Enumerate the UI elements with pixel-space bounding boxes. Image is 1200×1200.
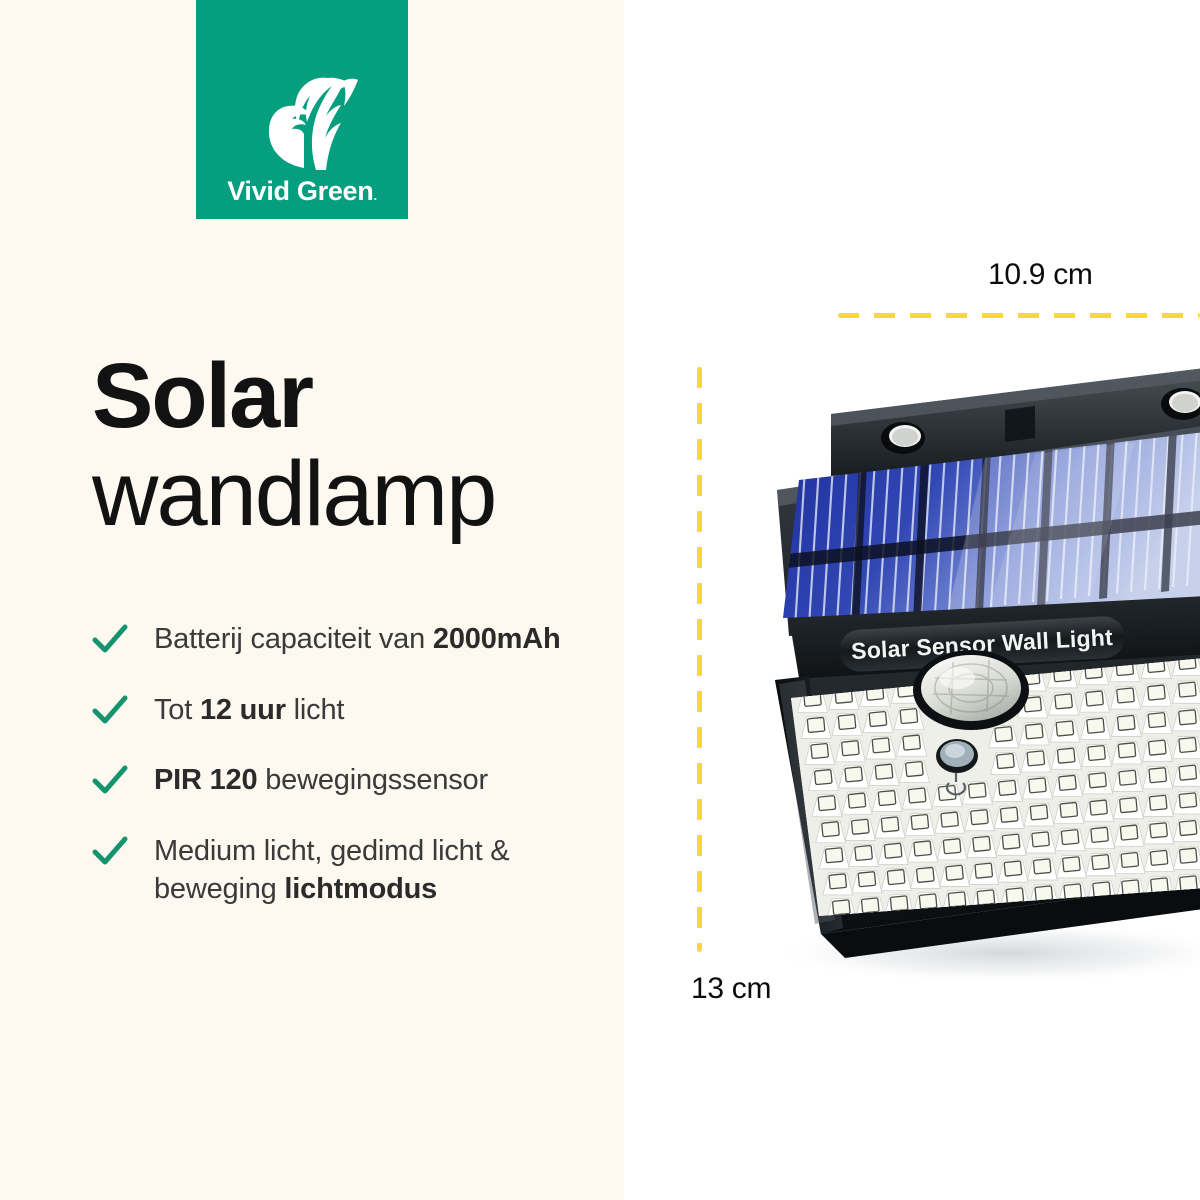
led-chip [872, 738, 890, 753]
led-chip [807, 717, 825, 732]
feature-list: Batterij capaciteit van 2000mAhTot 12 uu… [92, 620, 592, 909]
led-chip [884, 843, 902, 858]
led-chip [914, 841, 932, 856]
led-chip [1148, 740, 1166, 755]
headline-line-1: Solar [92, 348, 612, 446]
led-chip [999, 780, 1017, 795]
led-chip [1091, 827, 1109, 842]
feature-item: Batterij capaciteit van 2000mAh [92, 620, 592, 659]
led-chip [1179, 682, 1197, 697]
led-chip [1151, 878, 1169, 893]
led-chip [919, 894, 937, 909]
led-chip [1150, 850, 1168, 865]
led-chip [1118, 743, 1136, 758]
pir-sensor [913, 650, 1029, 730]
led-chip [1004, 861, 1022, 876]
led-chip [851, 819, 869, 834]
led-chip [900, 709, 918, 724]
led-chip [875, 764, 893, 779]
check-icon [92, 763, 128, 797]
led-chip [858, 872, 876, 887]
led-chip [1033, 859, 1051, 874]
brand-logo: Vivid Green. [196, 0, 408, 219]
led-chip [822, 822, 840, 837]
led-chip [811, 743, 829, 758]
led-chip [1064, 884, 1082, 899]
led-chip [878, 791, 896, 806]
led-chip [1059, 775, 1077, 790]
led-chip [1056, 721, 1074, 736]
led-chip [855, 845, 873, 860]
led-chip [1055, 694, 1073, 709]
led-chip [845, 767, 863, 782]
led-chip [838, 714, 856, 729]
led-chip [1029, 778, 1047, 793]
led-chip [1035, 886, 1053, 901]
led-chip [1120, 825, 1138, 840]
led-chip [869, 712, 887, 727]
led-chip [1002, 834, 1020, 849]
led-chip [1117, 715, 1135, 730]
led-chip [814, 770, 832, 785]
led-chip [975, 863, 993, 878]
led-chip [1086, 691, 1104, 706]
led-chip [1089, 773, 1107, 788]
led-chip [1119, 770, 1137, 785]
led-chip [1179, 848, 1197, 863]
led-chip [890, 896, 908, 911]
led-chip [818, 796, 836, 811]
product-image-solar-wall-lamp: Solar Sensor Wall Light [735, 368, 1200, 978]
led-chip [971, 810, 989, 825]
feature-item: Tot 12 uur licht [92, 691, 592, 730]
led-chip [1061, 830, 1079, 845]
led-chip [1179, 737, 1197, 752]
led-chip [829, 874, 847, 889]
height-dimension-line [697, 367, 702, 952]
led-chip [1092, 855, 1110, 870]
led-chip [1000, 807, 1018, 822]
led-chip [1087, 718, 1105, 733]
led-chip [1179, 710, 1197, 725]
led-chip [1148, 685, 1166, 700]
product-marketing-card: Vivid Green. Solar wandlamp Batterij cap… [0, 0, 1200, 1200]
led-chip [1149, 795, 1167, 810]
led-chip [1120, 798, 1138, 813]
led-chip [1179, 821, 1197, 836]
led-chip [948, 892, 966, 907]
page-title: Solar wandlamp [92, 348, 612, 543]
leaves-icon [242, 72, 362, 172]
led-chip [887, 870, 905, 885]
led-chip [881, 817, 899, 832]
led-chip [1063, 857, 1081, 872]
led-chip [1093, 882, 1111, 897]
led-chip [1149, 768, 1167, 783]
check-icon [92, 693, 128, 727]
led-chip [842, 741, 860, 756]
led-chip [968, 783, 986, 798]
led-chip [943, 839, 961, 854]
led-chip [833, 900, 851, 915]
feature-item: Medium licht, gedimd licht & beweging li… [92, 832, 592, 909]
led-chip [1027, 751, 1045, 766]
led-chip [977, 890, 995, 905]
led-chip [1179, 793, 1197, 808]
registered-mark: . [373, 188, 376, 203]
check-icon [92, 834, 128, 868]
led-chip [941, 812, 959, 827]
led-chip [1150, 823, 1168, 838]
feature-label: Medium licht, gedimd licht & beweging li… [154, 832, 592, 909]
led-chip [908, 788, 926, 803]
led-chip [1057, 748, 1075, 763]
led-chip [1090, 800, 1108, 815]
screw-hole-left [881, 422, 925, 454]
led-chip [1006, 888, 1024, 903]
led-chip [903, 735, 921, 750]
led-chip [861, 898, 879, 913]
feature-label: PIR 120 bewegingssensor [154, 761, 488, 800]
led-chip [1179, 765, 1197, 780]
led-chip [1122, 880, 1140, 895]
led-chip [825, 848, 843, 863]
led-chip [1025, 724, 1043, 739]
brand-name: Vivid Green. [227, 178, 377, 205]
width-dimension-line [838, 313, 1200, 318]
led-chip [911, 814, 929, 829]
led-chip [1030, 805, 1048, 820]
headline-line-2: wandlamp [92, 446, 612, 544]
led-chip [1032, 832, 1050, 847]
led-chip [995, 727, 1013, 742]
led-chip [946, 865, 964, 880]
led-chip [1148, 713, 1166, 728]
feature-label: Tot 12 uur licht [154, 691, 344, 730]
led-chip [1060, 802, 1078, 817]
width-dimension-label: 10.9 cm [988, 258, 1093, 292]
feature-label: Batterij capaciteit van 2000mAh [154, 620, 560, 659]
led-chip [906, 762, 924, 777]
led-chip [1088, 745, 1106, 760]
led-chip [917, 867, 935, 882]
led-chip [1121, 852, 1139, 867]
led-chip [1180, 876, 1198, 891]
feature-item: PIR 120 bewegingssensor [92, 761, 592, 800]
led-chip [997, 753, 1015, 768]
led-chip [1117, 688, 1135, 703]
check-icon [92, 622, 128, 656]
solar-lamp-illustration: Solar Sensor Wall Light [735, 368, 1200, 978]
led-housing [775, 648, 1200, 958]
led-chip [973, 836, 991, 851]
led-chip [848, 793, 866, 808]
